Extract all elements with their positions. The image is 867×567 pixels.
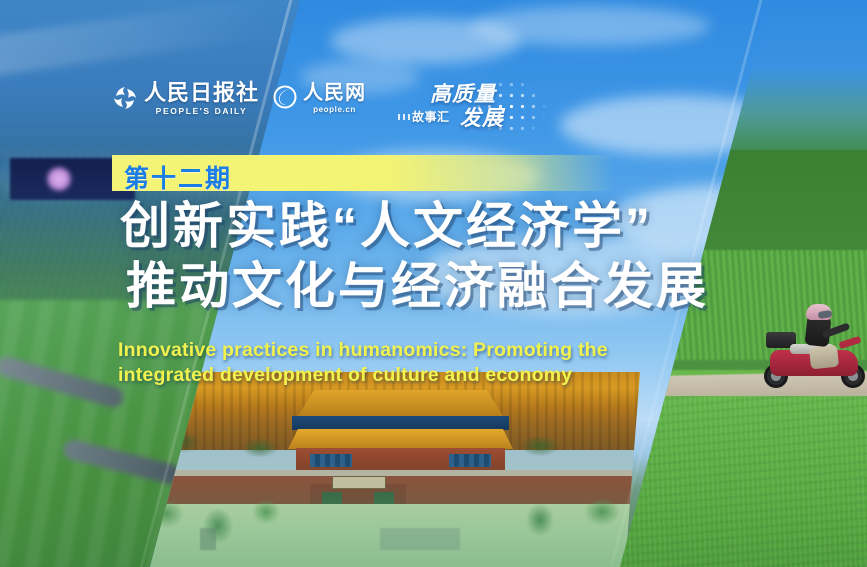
people-cn-english-name: people.cn	[313, 106, 356, 114]
high-quality-development-emblem: 高质量 发展 故事汇	[398, 72, 558, 144]
forbidden-city-green-haze	[140, 372, 660, 567]
promotional-banner: 人民日报社 PEOPLE'S DAILY 人民网 people.cn 高质量 发…	[0, 0, 867, 567]
emblem-line-bottom: 发展	[460, 102, 504, 132]
subtitle-line-2: integrated development of culture and ec…	[118, 363, 818, 388]
peoples-daily-pinwheel-icon	[112, 85, 138, 116]
subtitle-line-1: Innovative practices in humanomics: Prom…	[118, 338, 818, 363]
emblem-tick-marks-icon	[398, 114, 412, 120]
emblem-overlay-text: 故事汇	[412, 108, 450, 125]
headline: 创新实践“人文经济学” 推动文化与经济融合发展	[120, 196, 820, 316]
people-cn-logo[interactable]: 人民网 people.cn	[273, 83, 366, 114]
people-cn-chinese-name: 人民网	[303, 83, 366, 103]
issue-number-label: 第十二期	[124, 159, 232, 195]
issue-ribbon: 第十二期	[112, 155, 614, 191]
peoples-daily-chinese-name: 人民日报社	[144, 82, 259, 104]
forbidden-city-scene	[140, 372, 660, 567]
peoples-daily-english-name: PEOPLE'S DAILY	[156, 107, 248, 116]
peoples-daily-logo[interactable]: 人民日报社 PEOPLE'S DAILY	[112, 82, 259, 116]
english-subtitle: Innovative practices in humanomics: Prom…	[118, 338, 818, 388]
headline-line-2: 推动文化与经济融合发展	[120, 256, 820, 316]
scooter-handlebar	[838, 336, 861, 349]
cloud	[470, 6, 710, 46]
headline-line-1: 创新实践“人文经济学”	[120, 196, 820, 256]
people-cn-globe-icon	[273, 85, 297, 114]
masthead-logos: 人民日报社 PEOPLE'S DAILY 人民网 people.cn	[112, 82, 366, 116]
